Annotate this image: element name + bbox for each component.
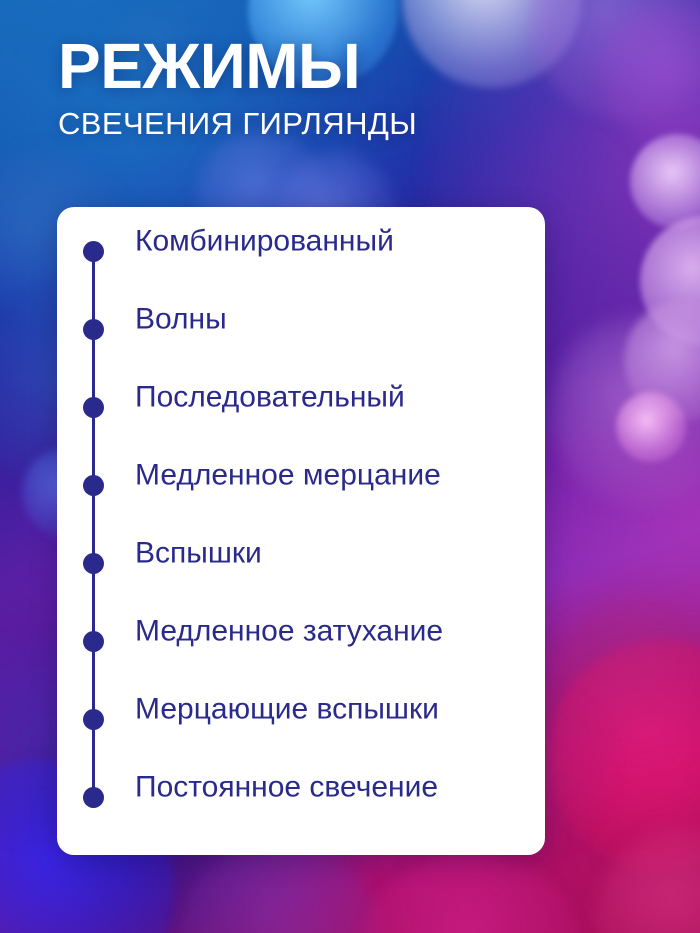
mode-label: Вспышки <box>135 536 531 569</box>
bokeh-circle-icon <box>596 828 700 933</box>
bokeh-circle-icon <box>640 216 700 346</box>
mode-label: Постоянное свечение <box>135 770 531 803</box>
bokeh-circle-icon <box>356 852 586 933</box>
mode-label: Комбинированный <box>135 224 531 257</box>
promo-banner: РЕЖИМЫ СВЕЧЕНИЯ ГИРЛЯНДЫ Комбинированный… <box>0 0 700 933</box>
bullet-dot-icon <box>83 319 104 340</box>
mode-label: Медленное затухание <box>135 614 531 647</box>
bullet-dot-icon <box>83 631 104 652</box>
mode-label: Последовательный <box>135 380 531 413</box>
bullet-dot-icon <box>83 475 104 496</box>
bullet-dot-icon <box>83 397 104 418</box>
bullet-dot-icon <box>83 553 104 574</box>
glow-middle-right <box>520 300 700 720</box>
bokeh-circle-icon <box>552 596 700 766</box>
bullet-dot-icon <box>83 241 104 262</box>
mode-label: Мерцающие вспышки <box>135 692 531 725</box>
page-title: РЕЖИМЫ <box>58 34 658 98</box>
bokeh-circle-icon <box>548 640 700 870</box>
bokeh-circle-icon <box>624 300 700 420</box>
bokeh-circle-icon <box>616 392 686 462</box>
mode-label: Медленное мерцание <box>135 458 531 491</box>
page-subtitle: СВЕЧЕНИЯ ГИРЛЯНДЫ <box>58 108 658 141</box>
bullet-dot-icon <box>83 709 104 730</box>
banner-header: РЕЖИМЫ СВЕЧЕНИЯ ГИРЛЯНДЫ <box>58 34 658 141</box>
bullet-dot-icon <box>83 787 104 808</box>
modes-list: КомбинированныйВолныПоследовательныйМедл… <box>57 207 545 855</box>
modes-card: КомбинированныйВолныПоследовательныйМедл… <box>57 207 545 855</box>
bokeh-circle-icon <box>548 316 700 506</box>
mode-label: Волны <box>135 302 531 335</box>
bokeh-circle-icon <box>630 134 700 229</box>
